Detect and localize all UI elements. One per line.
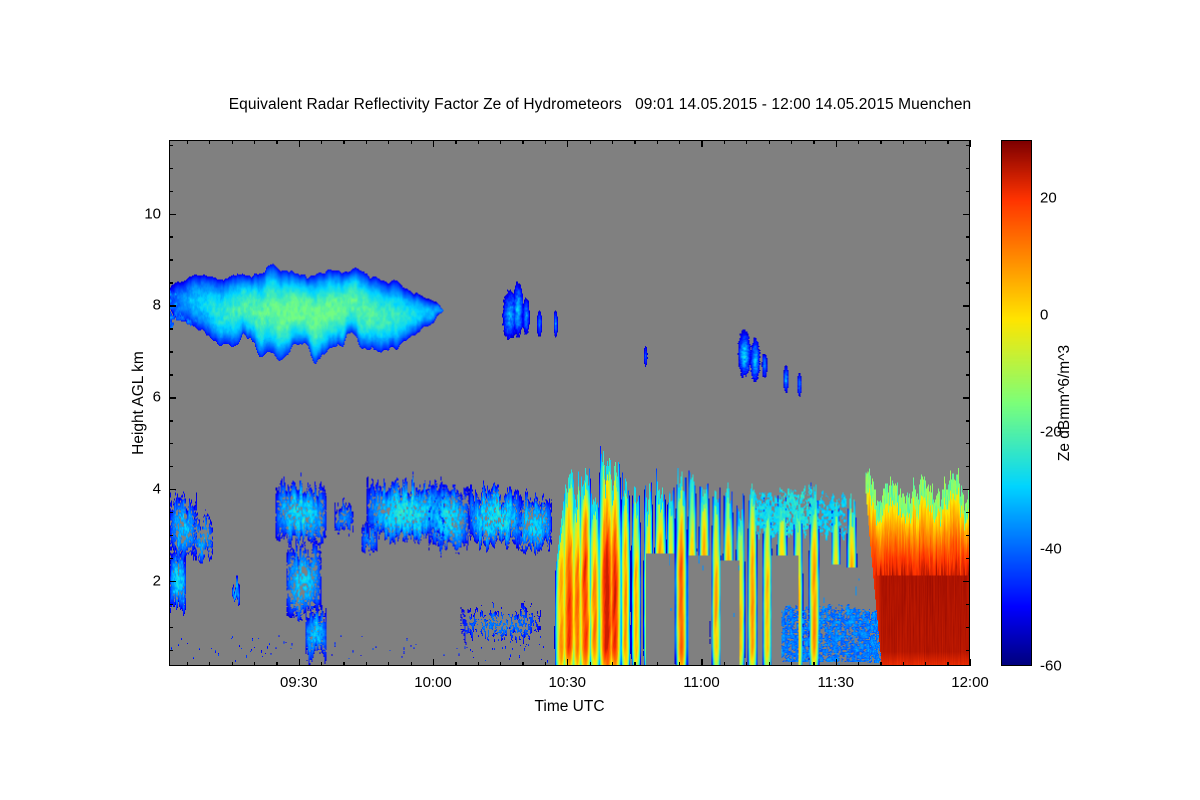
axis-tick: [966, 604, 970, 605]
axis-tick: [433, 659, 434, 666]
axis-tick: [836, 659, 837, 666]
axis-tick: [522, 662, 523, 666]
axis-tick: [232, 140, 233, 144]
axis-tick: [966, 650, 970, 651]
axis-tick: [276, 140, 277, 144]
axis-tick: [963, 305, 970, 306]
axis-tick: [769, 140, 770, 144]
axis-tick: [366, 140, 367, 144]
axis-tick: [545, 662, 546, 666]
axis-tick: [169, 374, 173, 375]
axis-tick: [567, 140, 568, 147]
axis-tick: [169, 168, 173, 169]
axis-tick: [925, 662, 926, 666]
axis-tick: [169, 443, 173, 444]
radar-figure: Equivalent Radar Reflectivity Factor Ze …: [0, 0, 1200, 800]
axis-tick: [634, 140, 635, 144]
axis-tick: [169, 214, 176, 215]
axis-tick: [169, 397, 176, 398]
axis-tick: [169, 282, 173, 283]
axis-tick: [966, 351, 970, 352]
axis-tick: [187, 140, 188, 144]
axis-tick: [836, 140, 837, 147]
axis-tick: [791, 140, 792, 144]
axis-tick: [880, 140, 881, 144]
axis-tick: [701, 659, 702, 666]
axis-tick: [679, 662, 680, 666]
axis-tick: [366, 662, 367, 666]
axis-tick: [947, 140, 948, 144]
axis-tick: [746, 662, 747, 666]
axis-tick: [966, 236, 970, 237]
axis-tick: [169, 489, 176, 490]
axis-tick: [590, 140, 591, 144]
axis-tick: [209, 662, 210, 666]
x-tick-label: 11:30: [818, 674, 854, 691]
axis-tick: [966, 512, 970, 513]
axis-tick: [299, 140, 300, 147]
axis-tick: [299, 659, 300, 666]
axis-tick: [970, 659, 971, 666]
axis-tick: [966, 145, 970, 146]
y-tick-label: 8: [153, 297, 161, 314]
y-axis-label: Height AGL km: [130, 258, 148, 548]
axis-tick: [966, 420, 970, 421]
x-tick-label: 12:00: [951, 674, 989, 691]
axis-tick: [321, 662, 322, 666]
axis-tick: [880, 662, 881, 666]
axis-tick: [388, 662, 389, 666]
axis-tick: [500, 662, 501, 666]
axis-tick: [769, 662, 770, 666]
axis-tick: [966, 535, 970, 536]
axis-tick: [590, 662, 591, 666]
axis-tick: [966, 328, 970, 329]
axis-tick: [966, 558, 970, 559]
axis-tick: [169, 558, 173, 559]
axis-tick: [343, 662, 344, 666]
axis-tick: [966, 259, 970, 260]
axis-tick: [966, 282, 970, 283]
axis-tick: [169, 191, 173, 192]
axis-tick: [411, 662, 412, 666]
axis-tick: [612, 140, 613, 144]
axis-tick: [657, 140, 658, 144]
axis-tick: [169, 627, 173, 628]
axis-tick: [724, 662, 725, 666]
axis-tick: [343, 140, 344, 144]
colorbar-tick-label: 20: [1040, 190, 1057, 207]
axis-tick: [963, 214, 970, 215]
axis-tick: [232, 662, 233, 666]
axis-tick: [963, 581, 970, 582]
axis-tick: [567, 659, 568, 666]
axis-tick: [966, 627, 970, 628]
axis-tick: [254, 140, 255, 144]
axis-tick: [169, 420, 173, 421]
y-tick-label: 10: [144, 205, 161, 222]
axis-tick: [411, 140, 412, 144]
axis-tick: [966, 466, 970, 467]
axis-tick: [724, 140, 725, 144]
axis-tick: [500, 140, 501, 144]
axis-tick: [545, 140, 546, 144]
axis-tick: [187, 662, 188, 666]
axis-tick: [388, 140, 389, 144]
axis-tick: [679, 140, 680, 144]
colorbar-tick-label: -60: [1040, 658, 1062, 675]
axis-tick: [858, 140, 859, 144]
x-tick-label: 09:30: [280, 674, 318, 691]
axis-tick: [169, 466, 173, 467]
colorbar-gradient: [1002, 141, 1031, 665]
axis-tick: [169, 581, 176, 582]
axis-tick: [791, 662, 792, 666]
axis-tick: [478, 140, 479, 144]
axis-tick: [966, 168, 970, 169]
axis-tick: [478, 662, 479, 666]
axis-tick: [858, 662, 859, 666]
axis-tick: [169, 236, 173, 237]
x-tick-label: 11:00: [683, 674, 719, 691]
y-tick-label: 6: [153, 389, 161, 406]
axis-tick: [169, 351, 173, 352]
axis-tick: [321, 140, 322, 144]
axis-tick: [903, 140, 904, 144]
axis-tick: [169, 512, 173, 513]
axis-tick: [966, 191, 970, 192]
axis-tick: [254, 662, 255, 666]
colorbar[interactable]: [1001, 140, 1032, 666]
x-tick-label: 10:30: [548, 674, 586, 691]
axis-tick: [169, 328, 173, 329]
axis-tick: [276, 662, 277, 666]
axis-tick: [169, 650, 173, 651]
axis-tick: [169, 259, 173, 260]
axis-tick: [903, 662, 904, 666]
axis-tick: [947, 662, 948, 666]
axis-tick: [634, 662, 635, 666]
axis-tick: [455, 140, 456, 144]
axis-tick: [169, 305, 176, 306]
axis-tick: [657, 662, 658, 666]
x-axis-label: Time UTC: [169, 698, 970, 716]
axis-tick: [746, 140, 747, 144]
axis-tick: [813, 662, 814, 666]
axis-tick: [209, 140, 210, 144]
axis-tick: [522, 140, 523, 144]
colorbar-tick-label: 0: [1040, 307, 1048, 324]
axis-tick: [701, 140, 702, 147]
axis-tick: [963, 397, 970, 398]
y-tick-label: 2: [153, 573, 161, 590]
axis-tick: [925, 140, 926, 144]
axis-tick: [966, 374, 970, 375]
radar-heatmap-canvas: [170, 141, 969, 665]
axis-tick: [169, 535, 173, 536]
y-tick-label: 4: [153, 481, 161, 498]
axis-tick: [966, 443, 970, 444]
axis-tick: [970, 140, 971, 147]
axis-tick: [169, 145, 173, 146]
axis-tick: [612, 662, 613, 666]
axis-tick: [813, 140, 814, 144]
colorbar-label: Ze dBmm^6/m^3: [1056, 258, 1074, 548]
plot-area[interactable]: [169, 140, 970, 666]
axis-tick: [169, 604, 173, 605]
axis-tick: [963, 489, 970, 490]
x-tick-label: 10:00: [414, 674, 452, 691]
axis-tick: [433, 140, 434, 147]
axis-tick: [455, 662, 456, 666]
page-title: Equivalent Radar Reflectivity Factor Ze …: [0, 96, 1200, 114]
